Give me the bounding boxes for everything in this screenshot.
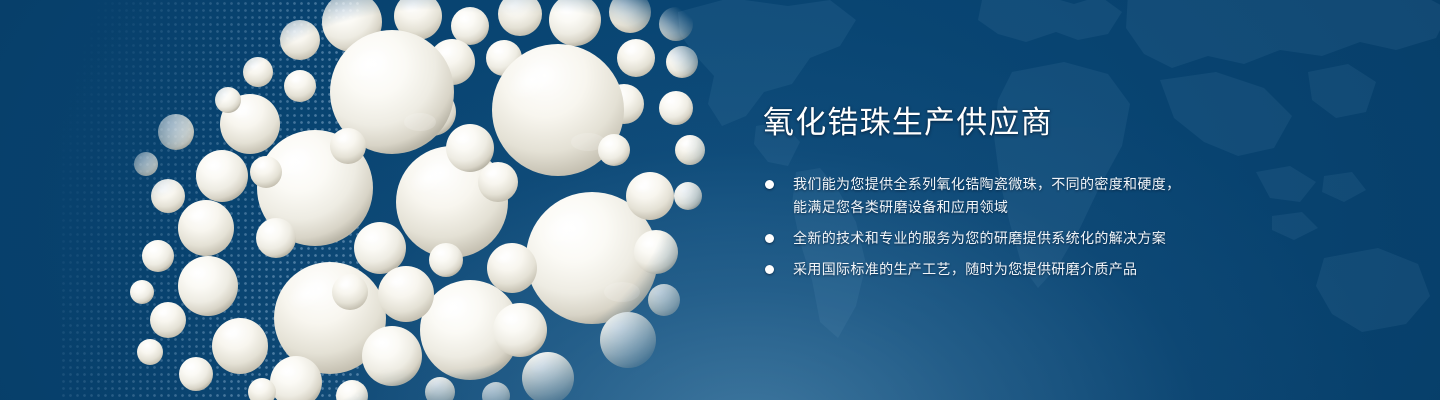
feature-bullet-item: 全新的技术和专业的服务为您的研磨提供系统化的解决方案 (763, 227, 1403, 249)
feature-bullet-item: 我们能为您提供全系列氧化锆陶瓷微珠，不同的密度和硬度， 能满足您各类研磨设备和应… (763, 173, 1403, 218)
banner-copy: 氧化锆珠生产供应商 我们能为您提供全系列氧化锆陶瓷微珠，不同的密度和硬度， 能满… (763, 104, 1403, 280)
bullet-line: 采用国际标准的生产工艺，随时为您提供研磨介质产品 (793, 258, 1403, 280)
bullet-line: 全新的技术和专业的服务为您的研磨提供系统化的解决方案 (793, 227, 1403, 249)
banner-headline: 氧化锆珠生产供应商 (763, 104, 1403, 143)
feature-bullet-item: 采用国际标准的生产工艺，随时为您提供研磨介质产品 (763, 258, 1403, 280)
bullet-dot-icon (765, 234, 774, 243)
bullet-line: 我们能为您提供全系列氧化锆陶瓷微珠，不同的密度和硬度， (793, 173, 1403, 195)
hero-banner: 氧化锆珠生产供应商 我们能为您提供全系列氧化锆陶瓷微珠，不同的密度和硬度， 能满… (0, 0, 1440, 400)
bullet-dot-icon (765, 265, 774, 274)
bullet-dot-icon (765, 180, 774, 189)
bullet-line: 能满足您各类研磨设备和应用领域 (793, 196, 1403, 218)
feature-bullet-list: 我们能为您提供全系列氧化锆陶瓷微珠，不同的密度和硬度， 能满足您各类研磨设备和应… (763, 173, 1403, 280)
